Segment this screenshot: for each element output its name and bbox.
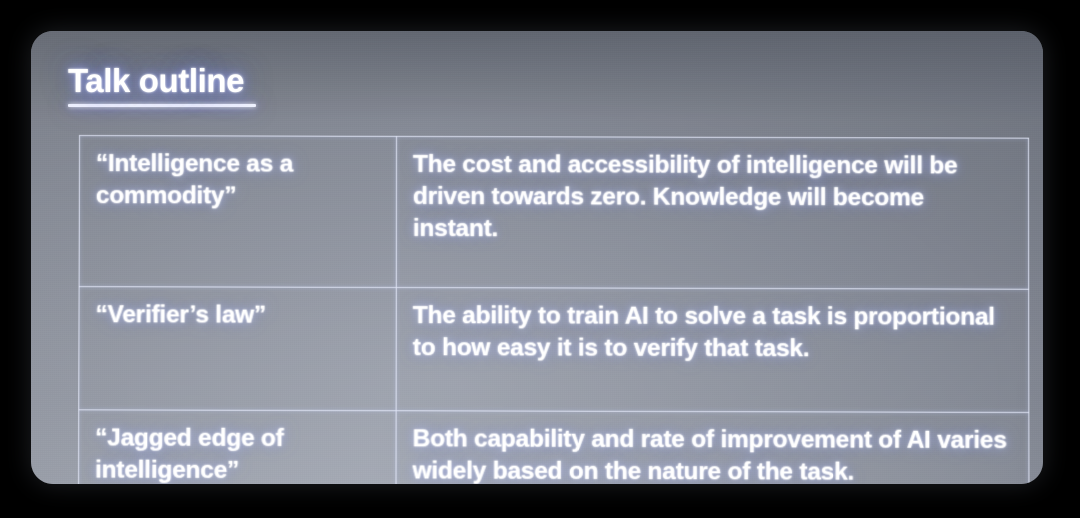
table-row: “Intelligence as a commodity” The cost a… — [79, 136, 1029, 290]
outline-term: “Intelligence as a commodity” — [79, 136, 396, 288]
table-row: “Verifier’s law” The ability to train AI… — [79, 287, 1029, 413]
outline-description: The cost and accessibility of intelligen… — [396, 136, 1028, 289]
presentation-stage: Talk outline “Intelligence as a commodit… — [0, 0, 1080, 518]
slide-content: Talk outline “Intelligence as a commodit… — [31, 31, 1043, 484]
outline-table-container: “Intelligence as a commodity” The cost a… — [78, 135, 1029, 460]
outline-term: “Jagged edge of intelligence” — [78, 410, 396, 484]
outline-description: Both capability and rate of improvement … — [396, 411, 1029, 484]
slide-title-block: Talk outline — [68, 63, 256, 107]
title-underline — [68, 104, 256, 107]
outline-description: The ability to train AI to solve a task … — [396, 287, 1029, 412]
outline-table: “Intelligence as a commodity” The cost a… — [78, 135, 1030, 484]
outline-term: “Verifier’s law” — [79, 287, 397, 411]
slide-canvas: Talk outline “Intelligence as a commodit… — [31, 31, 1043, 484]
page-title: Talk outline — [68, 63, 256, 99]
table-row: “Jagged edge of intelligence” Both capab… — [78, 410, 1029, 484]
